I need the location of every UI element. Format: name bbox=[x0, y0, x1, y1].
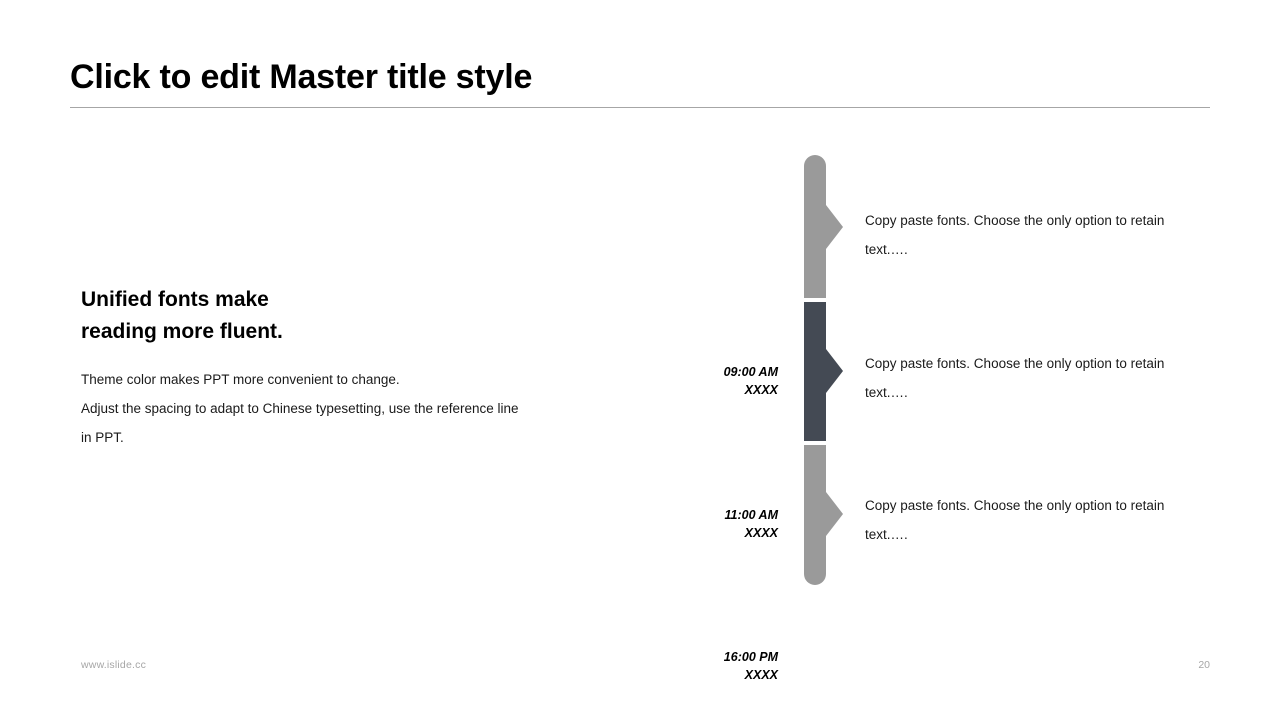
timeline-time-3: 16:00 PM bbox=[692, 648, 778, 666]
timeline-time-label-3[interactable]: 16:00 PM XXXX bbox=[692, 648, 778, 684]
timeline-description-1[interactable]: Copy paste fonts. Choose the only option… bbox=[865, 206, 1190, 264]
page-title[interactable]: Click to edit Master title style bbox=[70, 55, 1210, 99]
timeline-time-label-2[interactable]: 11:00 AM XXXX bbox=[692, 506, 778, 542]
timeline-arrow-icon-2 bbox=[826, 349, 843, 393]
timeline-segment-2[interactable] bbox=[804, 302, 826, 441]
timeline-subtitle-1: XXXX bbox=[692, 381, 778, 399]
timeline-arrow-icon-1 bbox=[826, 205, 843, 249]
left-content-block[interactable]: Unified fonts make reading more fluent. … bbox=[81, 284, 611, 452]
left-body-line-1: Theme color makes PPT more convenient to… bbox=[81, 365, 611, 394]
timeline-time-2: 11:00 AM bbox=[692, 506, 778, 524]
timeline-description-2[interactable]: Copy paste fonts. Choose the only option… bbox=[865, 349, 1190, 407]
timeline-bar bbox=[804, 155, 826, 585]
timeline-segment-3[interactable] bbox=[804, 445, 826, 585]
left-heading-line-1: Unified fonts make bbox=[81, 284, 611, 316]
slide-canvas: Click to edit Master title style Unified… bbox=[0, 0, 1280, 720]
timeline-description-3[interactable]: Copy paste fonts. Choose the only option… bbox=[865, 491, 1190, 549]
title-placeholder[interactable]: Click to edit Master title style bbox=[70, 55, 1210, 99]
timeline-time-label-1[interactable]: 09:00 AM XXXX bbox=[692, 363, 778, 399]
timeline-time-1: 09:00 AM bbox=[692, 363, 778, 381]
footer-url[interactable]: www.islide.cc bbox=[81, 659, 146, 671]
timeline-subtitle-2: XXXX bbox=[692, 524, 778, 542]
left-body-line-3: in PPT. bbox=[81, 423, 611, 452]
slide-page-number: 20 bbox=[1178, 659, 1210, 671]
left-body-text: Theme color makes PPT more convenient to… bbox=[81, 365, 611, 452]
timeline-diagram: 09:00 AM XXXX 11:00 AM XXXX 16:00 PM XXX… bbox=[700, 155, 1200, 585]
timeline-subtitle-3: XXXX bbox=[692, 666, 778, 684]
left-heading-line-2: reading more fluent. bbox=[81, 316, 611, 348]
title-divider bbox=[70, 107, 1210, 108]
timeline-segment-1[interactable] bbox=[804, 155, 826, 298]
left-body-line-2: Adjust the spacing to adapt to Chinese t… bbox=[81, 394, 611, 423]
left-heading: Unified fonts make reading more fluent. bbox=[81, 284, 611, 348]
timeline-arrow-icon-3 bbox=[826, 492, 843, 536]
